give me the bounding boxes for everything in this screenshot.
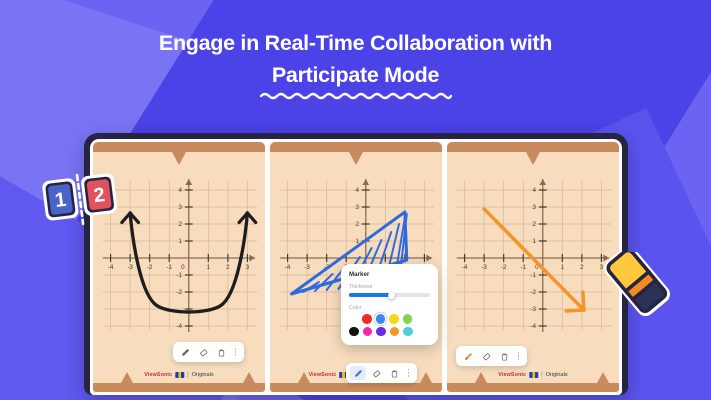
thickness-slider[interactable] <box>349 293 430 297</box>
color-magenta[interactable] <box>363 327 373 337</box>
svg-text:2: 2 <box>580 264 584 271</box>
color-blue[interactable] <box>376 314 386 324</box>
more-options-button[interactable] <box>404 366 413 380</box>
delete-tool-button[interactable] <box>386 366 402 380</box>
brand-lockup: ViewSonic <box>309 372 349 378</box>
brand-divider: | <box>541 372 543 378</box>
marker-settings-popup[interactable]: Marker Thickness Color <box>341 264 438 345</box>
svg-text:4: 4 <box>532 187 536 194</box>
brand-divider: | <box>187 372 189 378</box>
headline: Engage in Real-Time Collaboration with P… <box>0 28 711 100</box>
svg-text:-2: -2 <box>530 289 536 296</box>
svg-text:1: 1 <box>207 264 211 271</box>
color-cyan[interactable] <box>403 327 413 337</box>
brand-vendor: ViewSonic <box>144 372 172 378</box>
svg-text:-1: -1 <box>520 264 526 271</box>
color-yellow[interactable] <box>389 314 399 324</box>
promo-banner: Engage in Real-Time Collaboration with P… <box>0 0 711 400</box>
panel-bottom-notch-right <box>420 372 432 383</box>
panel-bottom-notch-left <box>121 372 133 383</box>
svg-text:3: 3 <box>246 264 250 271</box>
color-purple[interactable] <box>376 327 386 337</box>
panel-bottom-bar <box>270 383 442 392</box>
panel-top-bar <box>93 142 265 152</box>
eraser-tool-button[interactable] <box>478 349 494 363</box>
thickness-label: Thickness <box>349 284 430 290</box>
panel-1-toolbar[interactable] <box>173 342 244 362</box>
thickness-slider-fill <box>349 293 391 297</box>
brand-logo-mark <box>529 372 538 378</box>
panel-bottom-notch-right <box>243 372 255 383</box>
color-black[interactable] <box>349 327 359 337</box>
svg-text:-1: -1 <box>530 272 536 279</box>
panel-bottom-notch-right <box>597 372 609 383</box>
panel-2-toolbar[interactable] <box>346 363 417 383</box>
svg-text:-3: -3 <box>127 264 133 271</box>
more-options-button[interactable] <box>514 349 523 363</box>
svg-text:1: 1 <box>532 238 536 245</box>
svg-text:-1: -1 <box>166 264 172 271</box>
panel-bottom-notch-left <box>298 372 310 383</box>
headline-line-2: Participate Mode <box>260 60 452 90</box>
panel-bottom-bar <box>93 383 265 392</box>
pen-tool-button[interactable] <box>460 349 476 363</box>
svg-text:3: 3 <box>178 204 182 211</box>
color-red[interactable] <box>362 314 372 324</box>
svg-text:-4: -4 <box>176 323 182 330</box>
color-green[interactable] <box>403 314 413 324</box>
marker-popup-title: Marker <box>349 271 430 278</box>
svg-text:4: 4 <box>355 187 359 194</box>
svg-text:4: 4 <box>178 187 182 194</box>
svg-text:-4: -4 <box>462 264 468 271</box>
svg-text:-3: -3 <box>481 264 487 271</box>
delete-tool-button[interactable] <box>496 349 512 363</box>
panel-3-toolbar[interactable] <box>456 346 527 366</box>
svg-text:-1: -1 <box>176 272 182 279</box>
svg-text:2: 2 <box>226 264 230 271</box>
brand-lockup: ViewSonic | Originals <box>144 372 213 378</box>
color-swatch-row-1 <box>349 314 430 324</box>
svg-text:0: 0 <box>181 264 185 271</box>
eraser-tool-button[interactable] <box>195 345 211 359</box>
svg-text:1: 1 <box>178 238 182 245</box>
flip-card-counter-sticker: 1 2 <box>41 172 119 226</box>
svg-text:-2: -2 <box>501 264 507 271</box>
brand-vendor: ViewSonic <box>309 372 337 378</box>
brand-logo-mark <box>175 372 184 378</box>
more-options-button[interactable] <box>231 345 240 359</box>
brand-lockup: ViewSonic | Originals <box>498 372 567 378</box>
color-label: Color <box>349 305 430 311</box>
brand-product: Originals <box>192 372 214 378</box>
svg-text:2: 2 <box>355 221 359 228</box>
svg-text:-2: -2 <box>147 264 153 271</box>
svg-text:1: 1 <box>561 264 565 271</box>
svg-text:-4: -4 <box>285 264 291 271</box>
delete-tool-button[interactable] <box>213 345 229 359</box>
brand-vendor: ViewSonic <box>498 372 526 378</box>
svg-text:-3: -3 <box>304 264 310 271</box>
svg-text:-2: -2 <box>176 289 182 296</box>
eraser-tool-button[interactable] <box>368 366 384 380</box>
highlighter-marker-sticker <box>592 252 670 324</box>
color-swatch-row-2 <box>349 327 430 337</box>
svg-text:2: 2 <box>532 221 536 228</box>
wavy-underline-icon <box>260 91 452 100</box>
panel-bottom-bar <box>447 383 619 392</box>
thickness-slider-thumb[interactable] <box>388 292 395 299</box>
headline-line-2-wrap: Participate Mode <box>260 60 452 100</box>
svg-text:-3: -3 <box>530 306 536 313</box>
svg-text:-4: -4 <box>530 323 536 330</box>
panel-top-bar <box>270 142 442 152</box>
svg-text:3: 3 <box>355 204 359 211</box>
headline-line-1: Engage in Real-Time Collaboration with <box>0 28 711 58</box>
svg-text:3: 3 <box>532 204 536 211</box>
svg-text:-4: -4 <box>108 264 114 271</box>
panel-top-bar <box>447 142 619 152</box>
pen-tool-button[interactable] <box>177 345 193 359</box>
color-orange[interactable] <box>390 327 400 337</box>
pen-tool-button[interactable] <box>350 366 366 380</box>
color-swatch-grid[interactable] <box>349 314 430 336</box>
brand-product: Originals <box>546 372 568 378</box>
panel-bottom-notch-left <box>475 372 487 383</box>
svg-text:2: 2 <box>178 221 182 228</box>
